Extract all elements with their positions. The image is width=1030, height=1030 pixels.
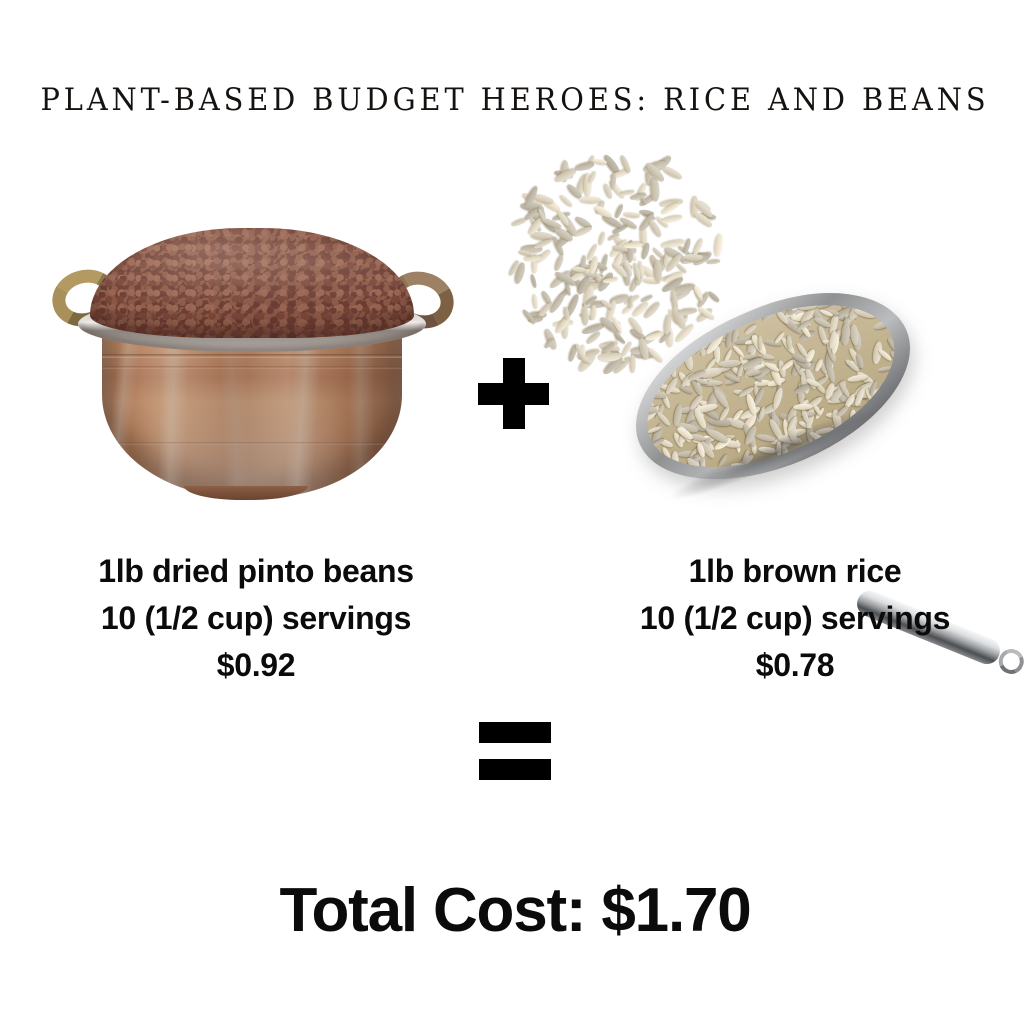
dried-pinto-beans-mound — [90, 228, 414, 338]
rice-grain — [660, 214, 682, 225]
pot-ridge — [102, 354, 402, 358]
rice-grain — [511, 217, 528, 228]
rice-grain — [841, 321, 851, 345]
rice-grain — [653, 260, 662, 282]
equals-top-bar — [479, 722, 551, 743]
brown-rice-scoop-image — [528, 188, 1028, 488]
rice-grain — [850, 324, 860, 346]
item-price: $0.92 — [30, 642, 482, 689]
item-price: $0.78 — [560, 642, 1030, 689]
page-title: PLANT-BASED BUDGET HEROES: RICE AND BEAN… — [36, 82, 994, 118]
rice-grain — [554, 254, 565, 272]
rice-grain — [530, 274, 537, 288]
rice-grain — [558, 193, 574, 208]
rice-grain — [732, 345, 745, 358]
plus-vertical-bar — [503, 358, 525, 429]
pot-ridge — [102, 366, 402, 369]
caption-brown-rice: 1lb brown rice 10 (1/2 cup) servings $0.… — [560, 548, 1030, 689]
pot-ridge — [102, 442, 402, 445]
item-name: 1lb brown rice — [560, 548, 1030, 595]
rice-grain — [878, 400, 885, 422]
pinto-beans-pot-image — [42, 228, 462, 508]
equals-operator-icon — [479, 722, 551, 780]
rice-grain — [603, 277, 618, 284]
rice-grain — [706, 259, 721, 265]
infographic-canvas: PLANT-BASED BUDGET HEROES: RICE AND BEAN… — [0, 0, 1030, 1030]
rice-grain — [713, 233, 724, 257]
rice-grain — [574, 161, 595, 172]
rice-grain — [878, 366, 892, 372]
caption-pinto-beans: 1lb dried pinto beans 10 (1/2 cup) servi… — [30, 548, 482, 689]
item-servings: 10 (1/2 cup) servings — [30, 595, 482, 642]
item-name: 1lb dried pinto beans — [30, 548, 482, 595]
rice-grain — [579, 196, 601, 204]
rice-grain — [624, 241, 644, 249]
rice-grain — [590, 305, 597, 321]
item-servings: 10 (1/2 cup) servings — [560, 595, 1030, 642]
total-cost-label: Total Cost: $1.70 — [0, 875, 1030, 946]
rice-grain — [598, 232, 607, 247]
equals-bottom-bar — [479, 759, 551, 780]
rice-grain — [683, 237, 692, 252]
rice-grain — [532, 294, 539, 309]
